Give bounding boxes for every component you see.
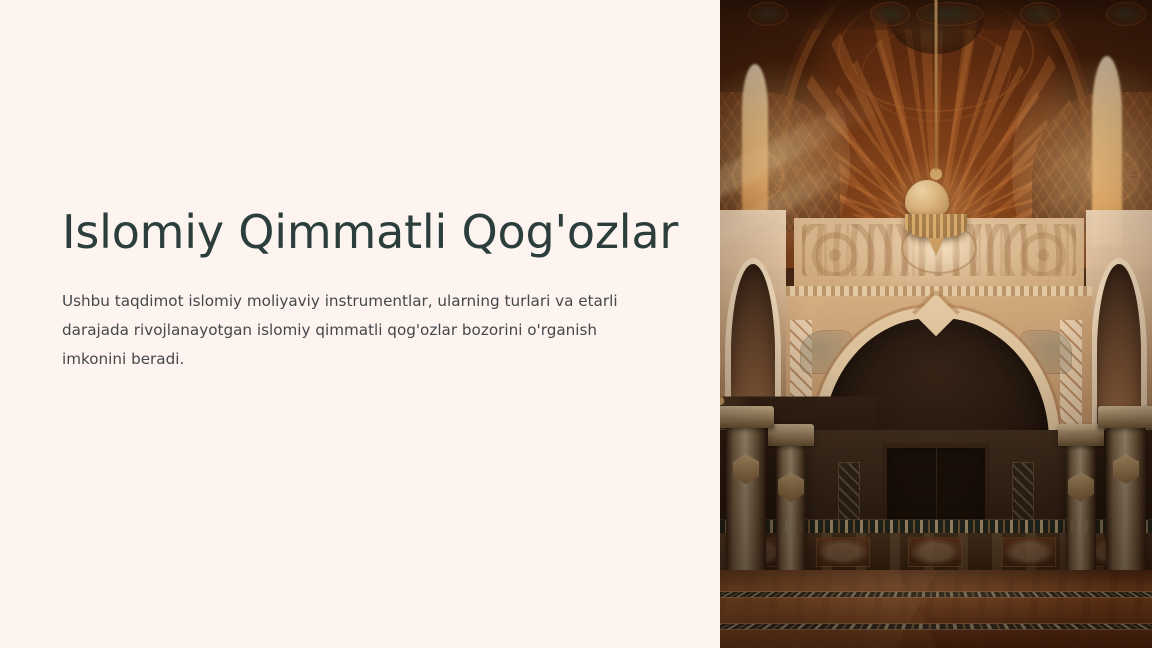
- column-outer-right: [1106, 426, 1146, 576]
- text-pane: Islomiy Qimmatli Qog'ozlar Ushbu taqdimo…: [0, 0, 720, 648]
- window-left: [742, 64, 768, 214]
- title-block: Islomiy Qimmatli Qog'ozlar Ushbu taqdimo…: [62, 205, 642, 374]
- chandelier-upper-rod: [935, 0, 938, 170]
- wall-niche-left: [838, 462, 860, 524]
- dado-panel-3: [908, 537, 962, 567]
- column-capital: [720, 406, 774, 428]
- chandelier-upper: [905, 168, 967, 256]
- slide-root: Islomiy Qimmatli Qog'ozlar Ushbu taqdimo…: [0, 0, 1152, 648]
- floor-reflection-sheen: [720, 570, 1152, 648]
- column-hex-panel: [733, 454, 759, 484]
- column-hex-panel: [1068, 472, 1094, 502]
- image-pane: [720, 0, 1152, 648]
- dado-panel-4: [1002, 537, 1056, 567]
- ceiling-rosette-4: [1020, 2, 1060, 26]
- column-inner-right: [1066, 444, 1096, 576]
- mosque-interior-photo: [720, 0, 1152, 648]
- slide-subtitle: Ushbu taqdimot islomiy moliyaviy instrum…: [62, 287, 634, 374]
- column-hex-panel: [1113, 454, 1139, 484]
- ceiling-rosette-3: [916, 2, 984, 26]
- column-outer-left: [726, 426, 766, 576]
- column-capital: [768, 424, 814, 446]
- ceiling-rosette-5: [1106, 2, 1146, 26]
- spandrel-ornament-right: [1020, 330, 1072, 374]
- page-title: Islomiy Qimmatli Qog'ozlar: [62, 205, 642, 259]
- ceiling-rosette-2: [870, 2, 910, 26]
- ceiling-rosette-1: [748, 2, 788, 26]
- chandelier-upper-glow: [876, 154, 996, 264]
- column-inner-left: [776, 444, 806, 576]
- wall-niche-right: [1012, 462, 1034, 524]
- frieze-dentil-band: [786, 286, 1092, 296]
- column-hex-panel: [778, 472, 804, 502]
- column-capital: [1098, 406, 1152, 428]
- dado-panel-2: [816, 537, 870, 567]
